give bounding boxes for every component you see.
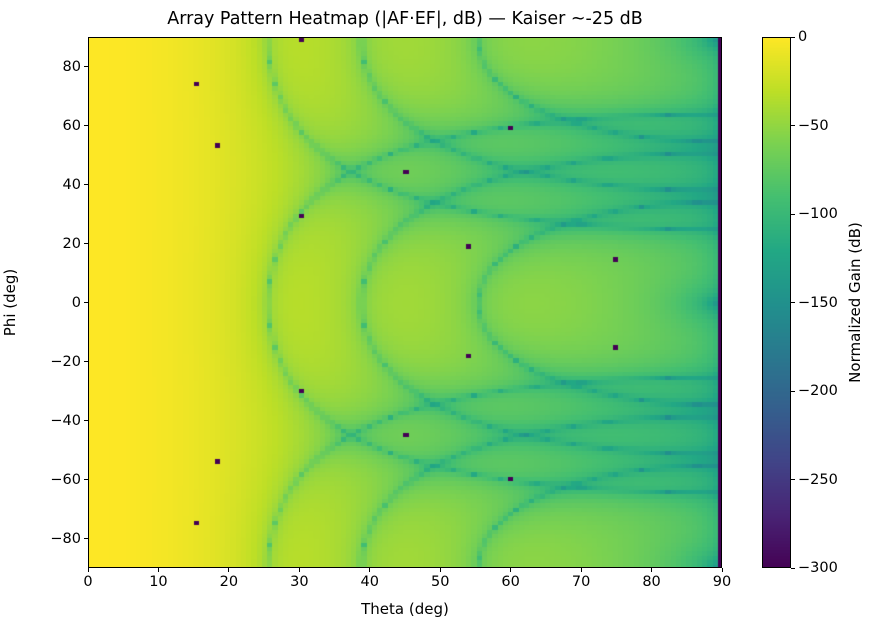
y-tick-mark: [84, 66, 88, 67]
y-tick-label: −60: [26, 472, 81, 488]
colorbar-tick-label: −200: [798, 383, 838, 399]
x-tick-mark: [158, 568, 159, 572]
y-tick-label: −20: [26, 354, 81, 370]
x-tick-label: 40: [361, 574, 379, 590]
colorbar-gradient: [763, 38, 791, 568]
page-title: Array Pattern Heatmap (|AF·EF|, dB) — Ka…: [88, 8, 722, 30]
y-tick-label: −80: [26, 531, 81, 547]
x-tick-label: 20: [220, 574, 238, 590]
y-tick-mark: [84, 538, 88, 539]
x-tick-mark: [228, 568, 229, 572]
y-tick-mark: [84, 479, 88, 480]
x-tick-mark: [440, 568, 441, 572]
colorbar-tick-label: −300: [798, 560, 838, 576]
y-tick-mark: [84, 184, 88, 185]
x-tick-label: 60: [501, 574, 519, 590]
x-tick-label: 90: [713, 574, 731, 590]
colorbar[interactable]: [762, 37, 791, 568]
y-axis-label: Phi (deg): [0, 37, 20, 568]
x-tick-mark: [299, 568, 300, 572]
colorbar-tick-mark: [791, 125, 795, 126]
x-tick-mark: [651, 568, 652, 572]
y-tick-mark: [84, 302, 88, 303]
colorbar-tick-mark: [791, 479, 795, 480]
x-tick-label: 10: [149, 574, 167, 590]
x-tick-label: 0: [83, 574, 92, 590]
x-tick-mark: [581, 568, 582, 572]
x-tick-mark: [369, 568, 370, 572]
colorbar-tick-label: −250: [798, 472, 838, 488]
colorbar-tick-label: 0: [798, 29, 807, 45]
y-tick-mark: [84, 243, 88, 244]
colorbar-tick-label: −150: [798, 295, 838, 311]
colorbar-tick-mark: [791, 568, 795, 569]
y-tick-mark: [84, 125, 88, 126]
x-tick-label: 50: [431, 574, 449, 590]
y-tick-mark: [84, 361, 88, 362]
y-tick-label: 20: [26, 236, 81, 252]
x-tick-label: 80: [642, 574, 660, 590]
x-tick-label: 70: [572, 574, 590, 590]
colorbar-tick-mark: [791, 214, 795, 215]
x-tick-mark: [510, 568, 511, 572]
y-tick-mark: [84, 420, 88, 421]
colorbar-tick-mark: [791, 391, 795, 392]
y-tick-label: 60: [26, 118, 81, 134]
heatmap-image: [89, 38, 722, 568]
y-tick-label: 0: [26, 295, 81, 311]
x-tick-mark: [722, 568, 723, 572]
colorbar-tick-label: −50: [798, 118, 829, 134]
y-tick-label: 40: [26, 177, 81, 193]
y-tick-label: −40: [26, 413, 81, 429]
x-tick-mark: [88, 568, 89, 572]
figure-canvas: Array Pattern Heatmap (|AF·EF|, dB) — Ka…: [0, 0, 885, 637]
x-tick-label: 30: [290, 574, 308, 590]
x-axis-label: Theta (deg): [88, 600, 722, 618]
colorbar-tick-mark: [791, 37, 795, 38]
heatmap-plot-area[interactable]: [88, 37, 722, 568]
colorbar-tick-mark: [791, 302, 795, 303]
colorbar-tick-label: −100: [798, 206, 838, 222]
colorbar-label: Normalized Gain (dB): [845, 37, 865, 568]
y-tick-label: 80: [26, 59, 81, 75]
